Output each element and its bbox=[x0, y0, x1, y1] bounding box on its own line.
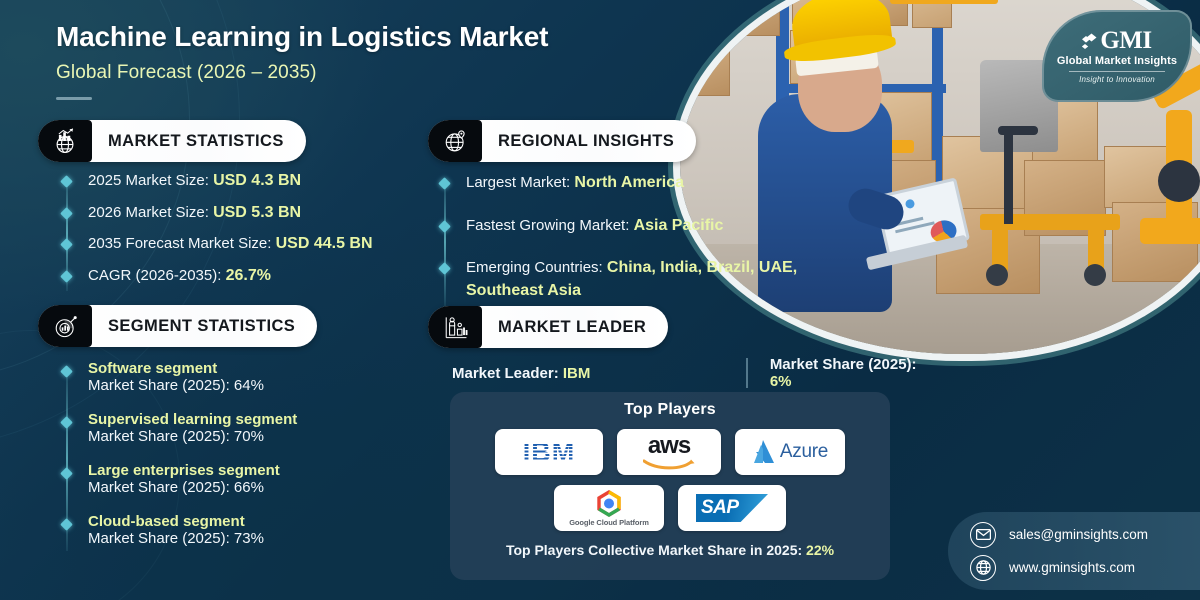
title-divider bbox=[56, 97, 92, 100]
row-label: 2035 Forecast Market Size: bbox=[88, 235, 271, 252]
top-players-logo-row: IBM aws Azure bbox=[450, 429, 890, 475]
globe-icon bbox=[970, 555, 996, 581]
gmi-logo: GMI Global Market Insights Insight to In… bbox=[1042, 10, 1192, 102]
gcp-wordmark: Google Cloud Platform bbox=[569, 518, 649, 527]
row-value: North America bbox=[574, 174, 684, 191]
row-label: 2025 Market Size: bbox=[88, 172, 209, 189]
azure-wordmark: Azure bbox=[780, 441, 828, 463]
row-label: Market Share (2025): bbox=[88, 428, 230, 445]
row-label: Emerging Countries: bbox=[466, 259, 603, 276]
contact-website-row[interactable]: www.gminsights.com bbox=[970, 555, 1200, 581]
bullet-diamond-icon bbox=[60, 416, 73, 429]
sap-wordmark: SAP bbox=[696, 497, 739, 519]
ibm-logo: IBM bbox=[495, 429, 603, 475]
pie-chart-icon bbox=[38, 305, 92, 347]
gcp-hexagon-icon bbox=[594, 490, 624, 517]
section-title: MARKET STATISTICS bbox=[92, 132, 306, 151]
row-label: Fastest Growing Market: bbox=[466, 217, 629, 234]
list-item: Largest Market: North America bbox=[444, 172, 864, 195]
bullet-diamond-icon bbox=[438, 177, 451, 190]
row-value: 66% bbox=[234, 479, 264, 496]
section-title: REGIONAL INSIGHTS bbox=[482, 132, 696, 151]
gmi-wordmark: GMI bbox=[1100, 28, 1151, 53]
list-item: 2025 Market Size: USD 4.3 BN bbox=[66, 170, 406, 193]
list-item: Emerging Countries: China, India, Brazil… bbox=[444, 257, 864, 302]
sap-mark-shape: SAP bbox=[696, 494, 768, 522]
gmi-full-name: Global Market Insights bbox=[1057, 55, 1177, 67]
section-title: SEGMENT STATISTICS bbox=[92, 317, 317, 336]
bullet-diamond-icon bbox=[60, 365, 73, 378]
row-value: Asia Pacific bbox=[634, 217, 724, 234]
row-value: 70% bbox=[234, 428, 264, 445]
podium-leader-icon bbox=[428, 306, 482, 348]
contact-block: sales@gminsights.com www.gminsights.com bbox=[948, 512, 1200, 590]
row-value: USD 5.3 BN bbox=[213, 204, 301, 221]
globe-pin-icon bbox=[428, 120, 482, 162]
row-value: USD 4.3 BN bbox=[213, 172, 301, 189]
bullet-diamond-icon bbox=[60, 175, 73, 188]
bullet-diamond-icon bbox=[438, 220, 451, 233]
azure-mark-icon bbox=[752, 439, 776, 465]
bullet-diamond-icon bbox=[60, 467, 73, 480]
market-leader-row: Market Leader: IBM Market Share (2025): … bbox=[450, 358, 940, 388]
gmi-diamond-mark-icon bbox=[1082, 33, 1097, 49]
row-label: Market Share (2025): bbox=[88, 479, 230, 496]
bullet-diamond-icon bbox=[438, 263, 451, 276]
row-label: CAGR (2026-2035): bbox=[88, 267, 221, 284]
collective-share-label: Top Players Collective Market Share in 2… bbox=[506, 542, 802, 558]
azure-logo: Azure bbox=[735, 429, 845, 475]
share-value: 6% bbox=[770, 373, 792, 390]
title-block: Machine Learning in Logistics Market Glo… bbox=[56, 22, 548, 100]
list-item: Large enterprises segment Market Share (… bbox=[66, 462, 426, 497]
market-statistics-list: 2025 Market Size: USD 4.3 BN 2026 Market… bbox=[66, 170, 406, 297]
segment-name: Large enterprises segment bbox=[88, 462, 426, 479]
list-item: Cloud-based segment Market Share (2025):… bbox=[66, 513, 426, 548]
row-label: Market Share (2025): bbox=[88, 377, 230, 394]
row-label: 2026 Market Size: bbox=[88, 204, 209, 221]
ibm-wordmark: IBM bbox=[523, 437, 576, 468]
leader-value: IBM bbox=[563, 365, 591, 382]
segment-name: Supervised learning segment bbox=[88, 411, 426, 428]
vertical-divider bbox=[746, 358, 748, 388]
section-header-market-statistics: MARKET STATISTICS bbox=[38, 120, 306, 162]
globe-bar-chart-icon bbox=[38, 120, 92, 162]
segment-statistics-list: Software segment Market Share (2025): 64… bbox=[66, 360, 426, 557]
leader-label: Market Leader: bbox=[452, 365, 559, 382]
row-value: 73% bbox=[234, 530, 264, 547]
bullet-diamond-icon bbox=[60, 518, 73, 531]
top-players-logo-row: Google Cloud Platform SAP bbox=[450, 485, 890, 531]
market-leader-name-block: Market Leader: IBM bbox=[450, 365, 746, 382]
list-item: Fastest Growing Market: Asia Pacific bbox=[444, 215, 864, 238]
list-item: 2035 Forecast Market Size: USD 44.5 BN bbox=[66, 233, 406, 256]
top-players-title: Top Players bbox=[450, 401, 890, 419]
bullet-diamond-icon bbox=[60, 239, 73, 252]
row-value: USD 44.5 BN bbox=[276, 235, 373, 252]
list-item: Software segment Market Share (2025): 64… bbox=[66, 360, 426, 395]
bullet-diamond-icon bbox=[60, 207, 73, 220]
aws-wordmark: aws bbox=[648, 434, 690, 458]
section-title: MARKET LEADER bbox=[482, 318, 668, 337]
page-subtitle: Global Forecast (2026 – 2035) bbox=[56, 62, 548, 84]
section-header-market-leader: MARKET LEADER bbox=[428, 306, 668, 348]
collective-share-value: 22% bbox=[806, 542, 834, 558]
row-value: 64% bbox=[234, 377, 264, 394]
section-header-segment-statistics: SEGMENT STATISTICS bbox=[38, 305, 317, 347]
page-title: Machine Learning in Logistics Market bbox=[56, 22, 548, 53]
list-item: Supervised learning segment Market Share… bbox=[66, 411, 426, 446]
segment-name: Software segment bbox=[88, 360, 426, 377]
contact-email[interactable]: sales@gminsights.com bbox=[1009, 527, 1148, 542]
contact-website[interactable]: www.gminsights.com bbox=[1009, 560, 1135, 575]
top-players-collective-share: Top Players Collective Market Share in 2… bbox=[450, 542, 890, 558]
regional-insights-list: Largest Market: North America Fastest Gr… bbox=[444, 172, 864, 312]
google-cloud-platform-logo: Google Cloud Platform bbox=[554, 485, 664, 531]
gmi-tagline: Insight to Innovation bbox=[1079, 75, 1155, 84]
row-value: 26.7% bbox=[226, 267, 271, 284]
top-players-panel: Top Players IBM aws bbox=[450, 392, 890, 580]
section-header-regional-insights: REGIONAL INSIGHTS bbox=[428, 120, 696, 162]
list-item: CAGR (2026-2035): 26.7% bbox=[66, 265, 406, 288]
aws-logo: aws bbox=[617, 429, 721, 475]
market-leader-share-block: Market Share (2025): 6% bbox=[770, 356, 940, 390]
infographic-canvas: GMI Global Market Insights Insight to In… bbox=[0, 0, 1200, 600]
envelope-icon bbox=[970, 522, 996, 548]
list-item: 2026 Market Size: USD 5.3 BN bbox=[66, 202, 406, 225]
segment-name: Cloud-based segment bbox=[88, 513, 426, 530]
gmi-divider bbox=[1069, 71, 1165, 72]
row-label: Largest Market: bbox=[466, 174, 570, 191]
bullet-diamond-icon bbox=[60, 270, 73, 283]
row-label: Market Share (2025): bbox=[88, 530, 230, 547]
aws-smile-icon bbox=[643, 459, 695, 470]
contact-email-row[interactable]: sales@gminsights.com bbox=[970, 522, 1200, 548]
sap-logo: SAP bbox=[678, 485, 786, 531]
share-label: Market Share (2025): bbox=[770, 356, 917, 373]
